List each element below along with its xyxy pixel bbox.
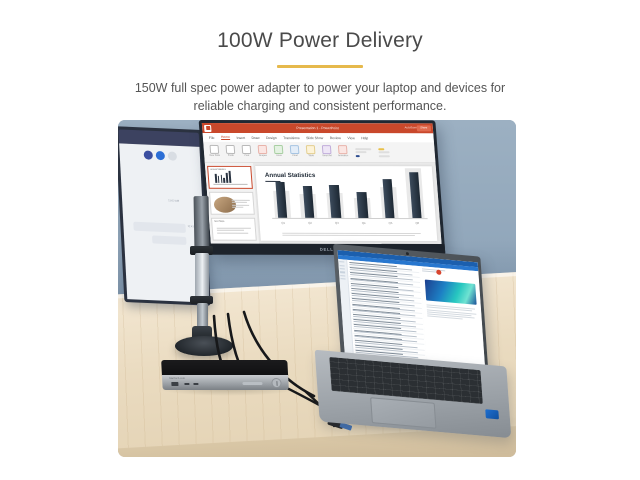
ribbon-smartart-button[interactable]: Smart Art (321, 145, 333, 160)
tab-insert[interactable]: Insert (236, 136, 245, 140)
monitor-arm-base (175, 336, 233, 356)
ribbon-label: Chart (292, 155, 298, 157)
shapes-icon (258, 145, 268, 154)
product-photo: 11:02 AM 11:41 AM Presentation 1 - Power… (118, 120, 516, 457)
product-feature-card: 100W Power Delivery 150W full spec power… (0, 0, 640, 480)
new-slide-icon (209, 144, 219, 153)
slide-footnote (282, 233, 421, 237)
ribbon-icons-button[interactable]: Icons (273, 145, 285, 160)
slide-thumbnail-3[interactable]: Next Steps (211, 218, 257, 241)
ribbon-font-button[interactable]: Font (241, 144, 253, 159)
mail-reading-pane[interactable] (419, 266, 485, 375)
ribbon-label: Animation (338, 155, 348, 157)
chart-x-label: Q1 (272, 221, 294, 225)
mail-header-lines (421, 268, 476, 276)
animation-icon (338, 145, 348, 154)
chart-axis-line (272, 218, 428, 219)
laptop-keyboard[interactable] (329, 357, 483, 404)
tab-review[interactable]: Review (330, 136, 341, 140)
chart-x-label: Q3 (326, 221, 348, 225)
ribbon-table-button[interactable]: Table (305, 145, 317, 160)
tab-view[interactable]: View (347, 136, 355, 140)
slide-thumbnail-panel: Annual Statistics (205, 163, 259, 244)
tab-draw[interactable]: Draw (251, 136, 259, 140)
thumbnail-text-lines (232, 200, 251, 209)
tab-file[interactable]: File (209, 135, 215, 139)
page-title: 100W Power Delivery (0, 0, 640, 56)
slide-thumbnail-1[interactable]: Annual Statistics (207, 166, 253, 189)
monitor-arm-upper-pole (194, 196, 210, 250)
chart-bar-group (295, 168, 320, 218)
ribbon-toolbar: New Slide Paste Font Shapes (203, 142, 435, 163)
powerpoint-workspace: Annual Statistics (205, 163, 442, 244)
ribbon-label: New Slide (210, 154, 221, 156)
ribbon-arrange-group[interactable] (378, 148, 390, 157)
ribbon-label: Paste (228, 154, 234, 156)
usb-c-port[interactable] (193, 382, 198, 385)
ribbon-label: Smart Art (322, 155, 332, 157)
main-monitor-screen: Presentation 1 - PowerPoint AutoSave Sha… (202, 123, 442, 244)
laptop-trackpad[interactable] (370, 397, 436, 429)
intel-sticker (485, 409, 499, 419)
paste-icon (226, 144, 236, 153)
main-monitor: Presentation 1 - PowerPoint AutoSave Sha… (199, 120, 446, 255)
tab-design[interactable]: Design (266, 136, 277, 140)
thumbnail-axis (213, 183, 247, 184)
chat-message-2 (152, 235, 187, 244)
ribbon-shapes-button[interactable]: Shapes (257, 145, 269, 160)
tab-transitions[interactable]: Transitions (283, 136, 300, 140)
usb-a-port[interactable] (171, 382, 178, 386)
ribbon-paste-button[interactable]: Paste (224, 144, 236, 159)
powerpoint-app-icon (204, 124, 212, 131)
chat-toolbar (144, 150, 178, 160)
chart-icon (290, 145, 300, 154)
chat-timestamp-1: 11:02 AM (168, 199, 179, 202)
mail-banner-image (424, 279, 476, 304)
header: 100W Power Delivery 150W full spec power… (0, 0, 640, 115)
dock-brand-label: StarTech.com (169, 377, 185, 380)
chart-bar-group (349, 168, 374, 218)
ribbon-label: Shapes (259, 154, 267, 156)
chart-bar-group (376, 168, 401, 218)
dock-front-face: StarTech.com (162, 375, 289, 390)
powerpoint-titlebar: Presentation 1 - PowerPoint AutoSave Sha… (202, 123, 433, 133)
more-icon[interactable] (168, 151, 178, 160)
chart-x-label: Q5 (380, 221, 402, 225)
window-title: Presentation 1 - PowerPoint (296, 126, 339, 130)
contact-icon[interactable] (144, 150, 154, 159)
ribbon-label: Table (308, 155, 314, 157)
font-icon (242, 144, 252, 153)
slide-canvas[interactable]: Annual Statistics (255, 166, 437, 241)
ribbon-format-group[interactable] (355, 148, 372, 157)
video-icon[interactable] (156, 151, 166, 160)
laptop (314, 250, 514, 440)
thumbnail-title: Next Steps (214, 221, 224, 223)
share-button[interactable]: Share (417, 125, 431, 131)
color-swatch-blue (356, 155, 360, 157)
arrange-row (378, 151, 389, 153)
webcam-icon (405, 252, 408, 255)
tab-slide-show[interactable]: Slide Show (306, 136, 323, 140)
ribbon-tabs: File Home Insert Draw Design Transitions… (203, 133, 434, 142)
dock-led-strip (242, 382, 262, 385)
autosave-toggle[interactable]: AutoSave (404, 125, 416, 129)
dock-top-shell (161, 360, 288, 376)
thumbnail-chart (214, 170, 231, 183)
ribbon-animation-button[interactable]: Animation (337, 145, 349, 160)
mail-body-text (426, 304, 477, 322)
monitor-arm-mid-pole (195, 253, 209, 301)
chart-bar-group (268, 168, 293, 218)
slide-thumbnail-2[interactable] (209, 192, 255, 215)
ribbon-label: Icons (276, 155, 282, 157)
format-row (355, 151, 366, 153)
thumbnail-text-lines (217, 228, 252, 235)
chart-x-label: Q6 (407, 221, 429, 225)
chart-bar-group (403, 168, 428, 218)
tab-home[interactable]: Home (221, 135, 230, 141)
brand-logo-icon (436, 270, 441, 275)
arrange-row (379, 155, 390, 157)
ribbon-new-slide-button[interactable]: New Slide (208, 144, 220, 159)
smartart-icon (322, 145, 332, 154)
chat-message-1 (133, 222, 186, 233)
page-subtitle: 150W full spec power adapter to power yo… (120, 68, 520, 115)
chart-x-label: Q2 (299, 221, 321, 225)
chart-bar-group (322, 168, 347, 218)
color-swatch-gold (378, 148, 384, 150)
icons-icon (274, 145, 284, 154)
docking-station: StarTech.com (161, 360, 289, 390)
slide-bar-chart: Q1 Q2 Q3 Q4 Q5 Q6 (270, 186, 429, 227)
tab-help[interactable]: Help (361, 136, 368, 140)
table-icon (306, 145, 316, 154)
chart-bars (268, 168, 427, 218)
chart-x-labels: Q1 Q2 Q3 Q4 Q5 Q6 (272, 221, 428, 225)
power-button[interactable] (271, 378, 282, 388)
chart-x-label: Q4 (353, 221, 375, 225)
format-row (355, 148, 371, 150)
ribbon-label: Font (244, 154, 249, 156)
usb-c-port[interactable] (184, 382, 189, 385)
ribbon-chart-button[interactable]: Chart (289, 145, 301, 160)
